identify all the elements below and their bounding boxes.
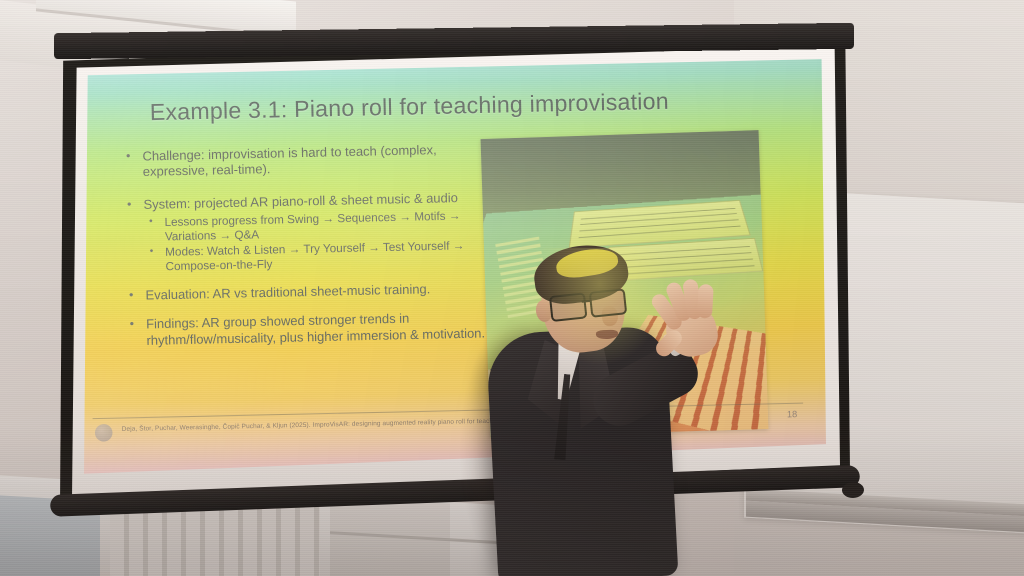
slide-title: Example 3.1: Piano roll for teaching imp…	[150, 88, 670, 126]
bullet-findings: Findings: AR group showed stronger trend…	[127, 310, 488, 349]
bullet-challenge: Challenge: improvisation is hard to teac…	[124, 142, 485, 181]
bullet-lessons: Lessons progress from Swing → Sequences …	[146, 210, 486, 246]
slide-bullet-list: Challenge: improvisation is hard to teac…	[124, 142, 489, 354]
presenter-hand	[648, 274, 736, 365]
slide-page-number: 18	[787, 409, 798, 420]
lecture-room-photo: Example 3.1: Piano roll for teaching imp…	[0, 0, 1024, 576]
